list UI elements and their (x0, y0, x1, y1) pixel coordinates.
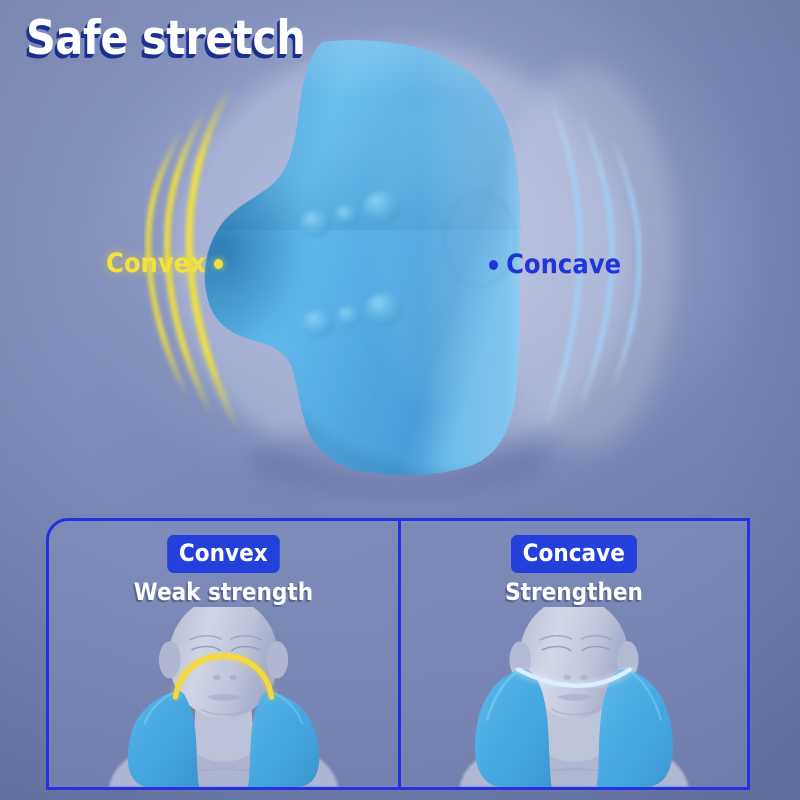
annotation-concave: Concave (489, 249, 621, 280)
product-infographic: Safe stretch (0, 0, 800, 800)
comparison-panel-convex: Convex Weak strength (49, 521, 398, 787)
illustration-concave (401, 607, 747, 787)
annotation-convex: Convex (106, 248, 223, 279)
comparison-section: Convex Weak strength (46, 518, 750, 790)
page-title: Safe stretch (26, 15, 305, 62)
annotation-concave-label: Concave (506, 249, 621, 280)
badge-concave: Concave (511, 535, 637, 573)
panel-head-concave: Concave Strengthen (401, 521, 747, 604)
dot-marker-icon (489, 260, 498, 270)
subtitle-concave: Strengthen (418, 580, 729, 604)
illustration-convex (49, 607, 398, 787)
badge-convex: Convex (167, 535, 279, 573)
subtitle-convex: Weak strength (66, 580, 380, 604)
dot-marker-icon (214, 259, 223, 269)
annotation-convex-label: Convex (106, 248, 206, 279)
panel-head-convex: Convex Weak strength (49, 521, 398, 604)
comparison-panel-concave: Concave Strengthen (398, 521, 747, 787)
